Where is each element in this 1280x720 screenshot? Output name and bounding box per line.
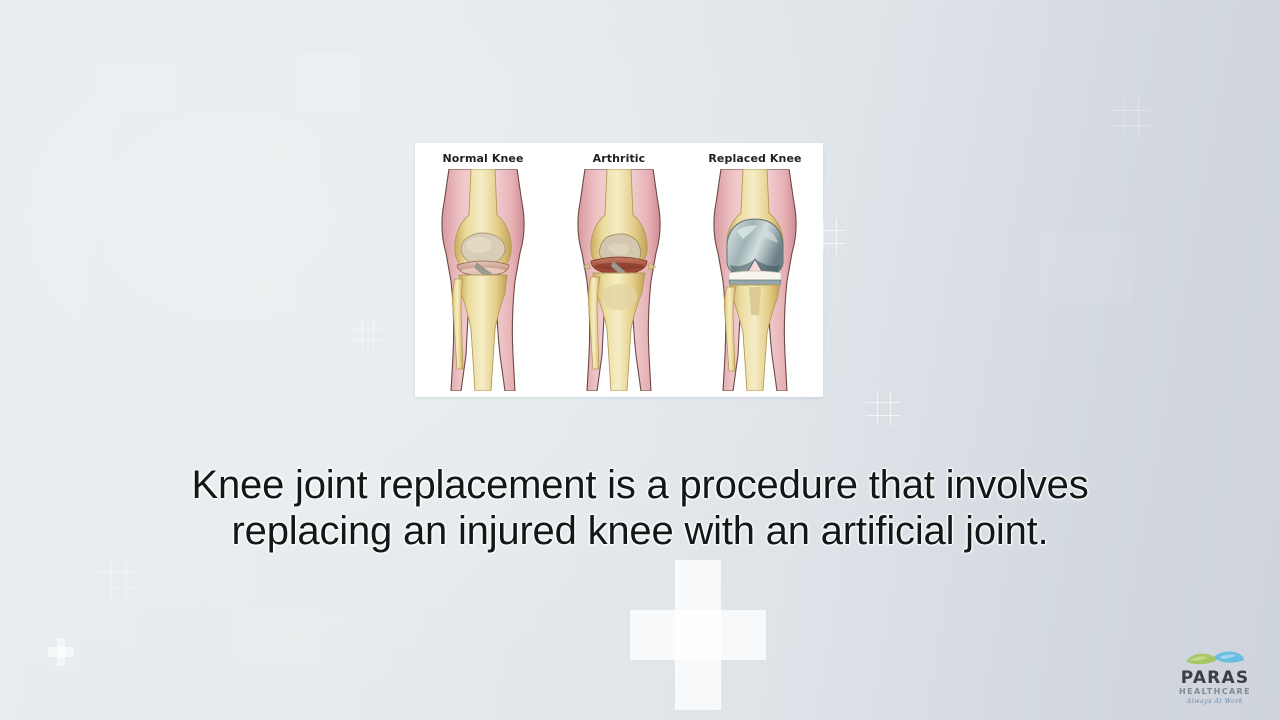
caption-subtitle: Knee joint replacement is a procedure th… <box>0 462 1280 554</box>
video-frame: Normal Knee <box>0 0 1280 720</box>
knee-panel-normal: Normal Knee <box>415 143 551 397</box>
medical-cross-watermark <box>352 318 382 350</box>
replaced-knee-diagram <box>693 169 817 391</box>
medical-cross-watermark <box>630 560 766 710</box>
background-block <box>236 612 356 666</box>
knee-comparison-illustration: Normal Knee <box>415 143 823 397</box>
knee-panel-label-replaced: Replaced Knee <box>687 152 823 165</box>
normal-knee-diagram <box>421 169 545 391</box>
logo-brand-name: PARAS <box>1160 669 1270 687</box>
knee-panel-arthritic: Arthritic <box>551 143 687 397</box>
medical-cross-watermark <box>1110 96 1150 138</box>
background-block <box>296 52 358 110</box>
background-block <box>1040 232 1130 302</box>
paras-healthcare-logo: PARAS HEALTHCARE Always At Work <box>1160 648 1270 710</box>
arthritic-knee-diagram <box>557 169 681 391</box>
medical-cross-watermark <box>48 638 74 666</box>
medical-cross-watermark <box>96 556 140 602</box>
knee-panel-replaced: Replaced Knee <box>687 143 823 397</box>
medical-cross-watermark <box>866 390 900 426</box>
caption-line-1: Knee joint replacement is a procedure th… <box>0 462 1280 508</box>
logo-tagline: Always At Work <box>1160 697 1270 706</box>
knee-panel-label-arthritic: Arthritic <box>551 152 687 165</box>
caption-line-2: replacing an injured knee with an artifi… <box>0 508 1280 554</box>
leaf-swoosh-icon <box>1184 648 1246 668</box>
logo-brand-sub: HEALTHCARE <box>1160 687 1270 697</box>
knee-panel-label-normal: Normal Knee <box>415 152 551 165</box>
background-block <box>100 62 178 108</box>
